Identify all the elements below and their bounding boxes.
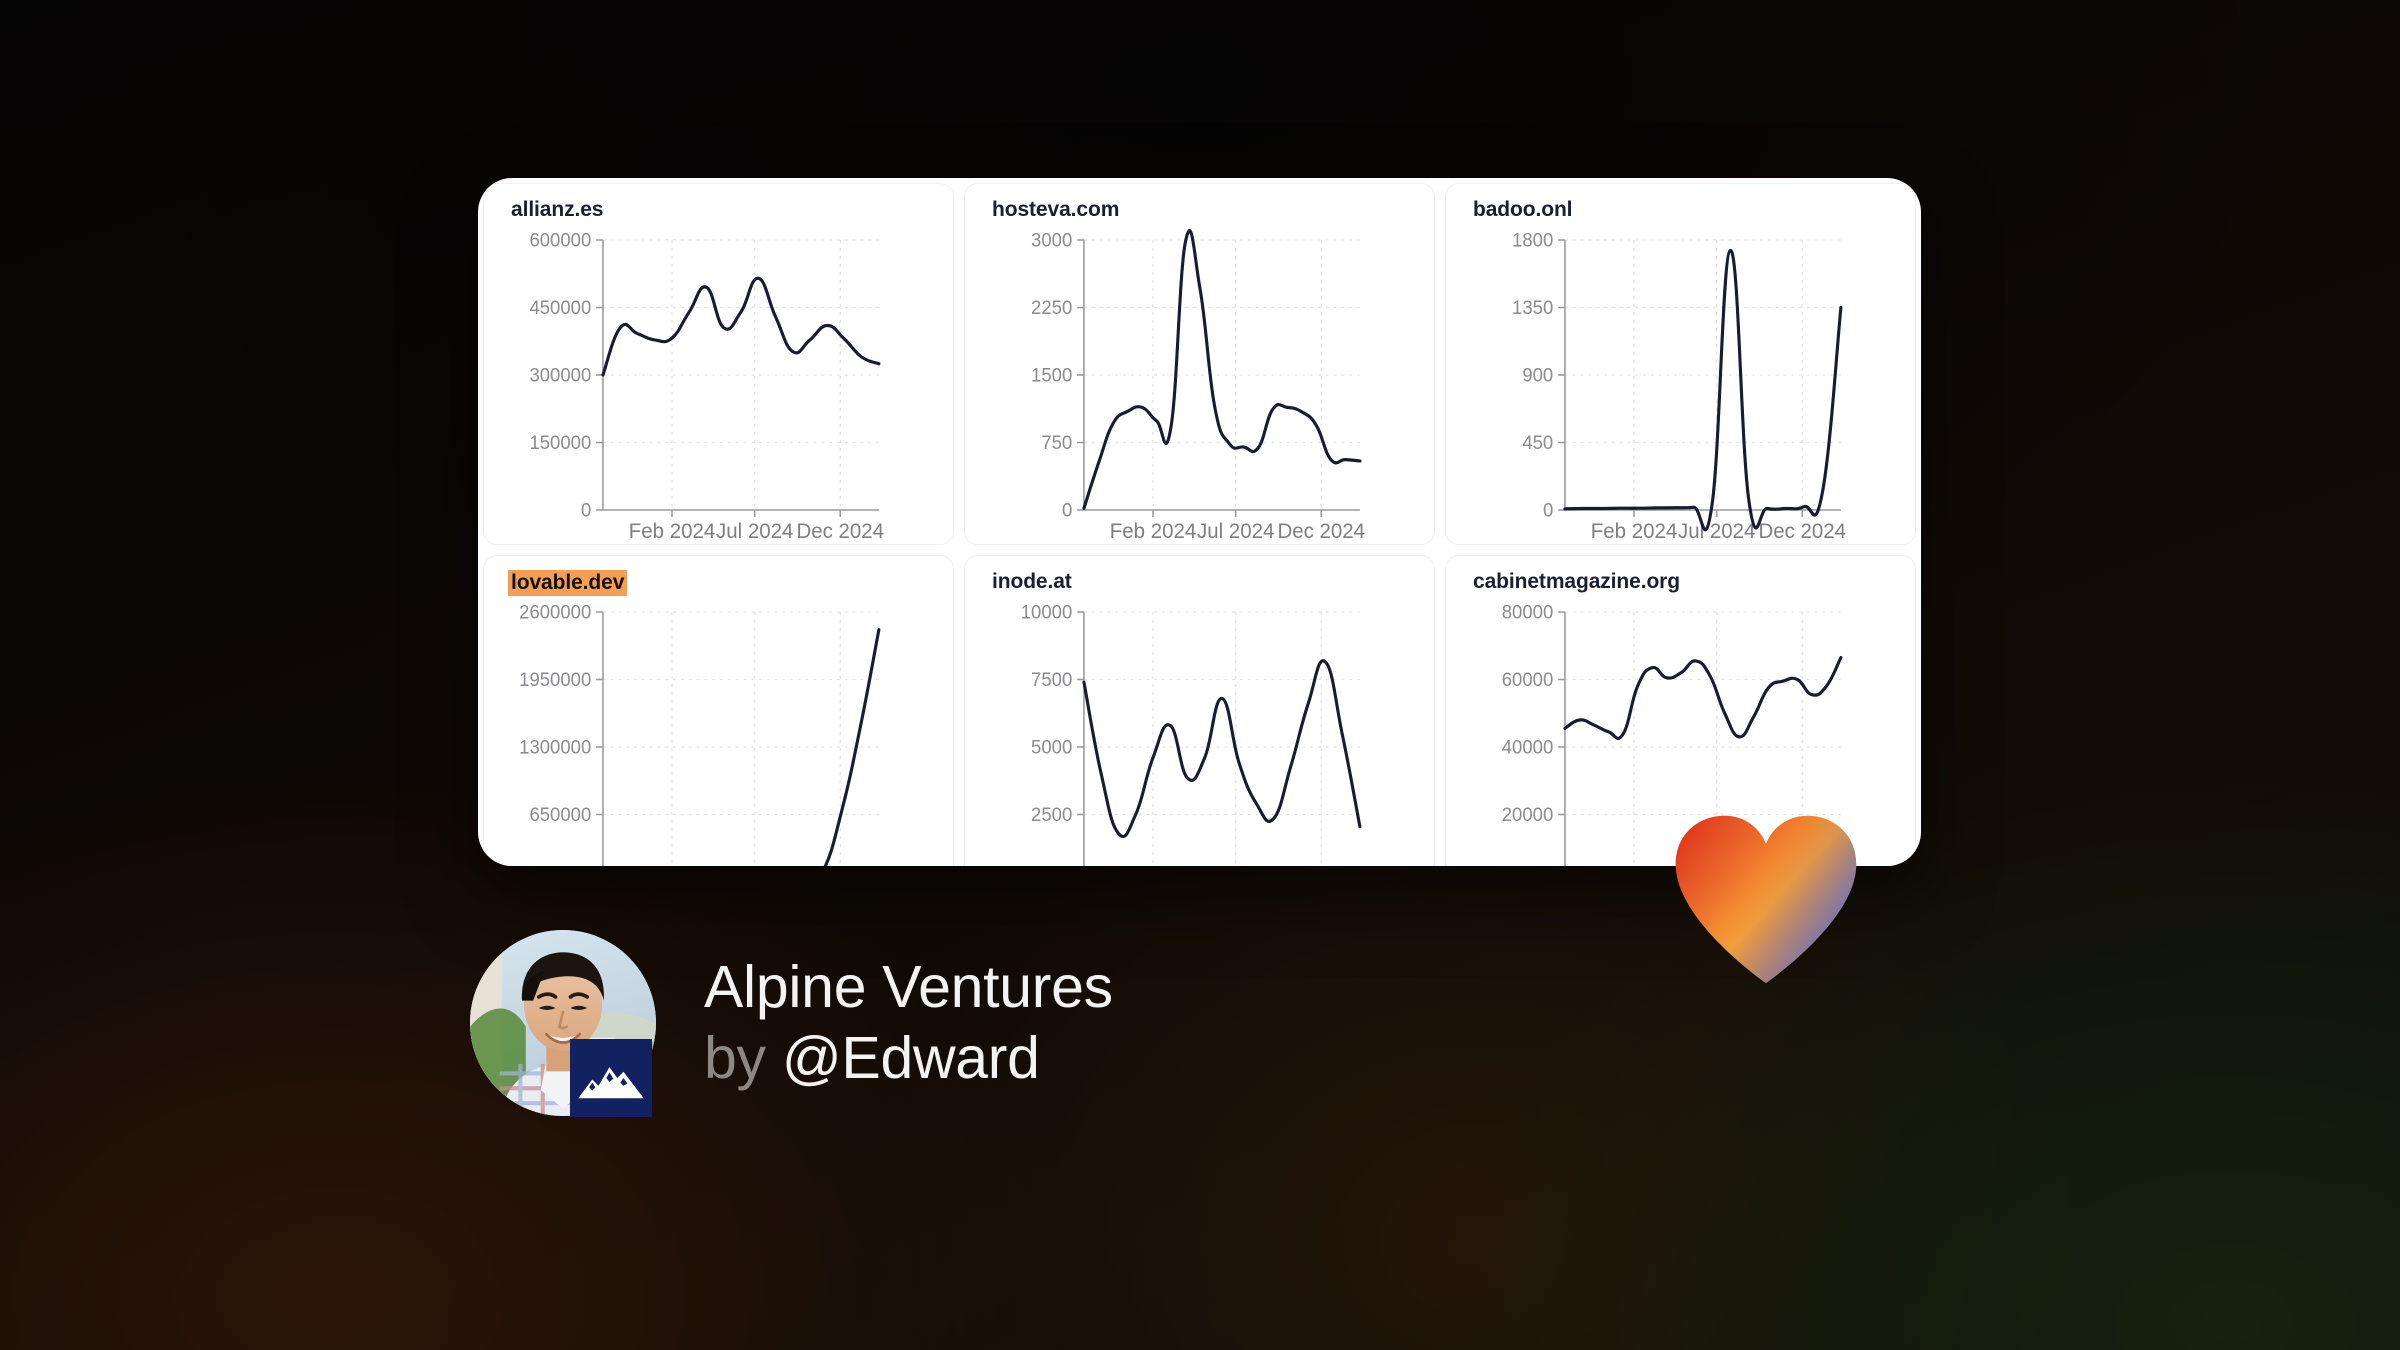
svg-text:300000: 300000 <box>529 364 591 385</box>
chart-title: allianz.es <box>511 198 603 222</box>
chart-title: badoo.onl <box>1473 198 1572 222</box>
handle-label: @Edward <box>782 1025 1040 1091</box>
svg-text:60000: 60000 <box>1502 669 1553 690</box>
svg-text:2600000: 2600000 <box>519 601 591 622</box>
svg-text:10000: 10000 <box>1021 601 1072 622</box>
svg-text:2500: 2500 <box>1031 804 1072 825</box>
svg-text:1300000: 1300000 <box>519 736 591 757</box>
chart-plot: 25005000750010000 <box>965 598 1434 866</box>
svg-text:1800: 1800 <box>1512 229 1553 250</box>
svg-text:Dec 2024: Dec 2024 <box>1277 520 1365 543</box>
chart-title: hosteva.com <box>992 198 1119 222</box>
svg-text:1950000: 1950000 <box>519 669 591 690</box>
by-label: by <box>704 1025 766 1091</box>
svg-text:600000: 600000 <box>529 229 591 250</box>
chart-grid: allianz.es 0150000300000450000600000Feb … <box>478 178 1921 866</box>
chart-title: inode.at <box>992 570 1072 594</box>
chart-panel-hosteva[interactable]: hosteva.com 0750150022503000Feb 2024Jul … <box>964 183 1435 545</box>
svg-text:Jul 2024: Jul 2024 <box>716 520 793 543</box>
dashboard-card: allianz.es 0150000300000450000600000Feb … <box>478 178 1921 866</box>
brand-byline: by @Edward <box>704 1026 1113 1091</box>
svg-text:7500: 7500 <box>1031 669 1072 690</box>
svg-text:1350: 1350 <box>1512 297 1553 318</box>
svg-text:Dec 2024: Dec 2024 <box>796 520 884 543</box>
heart-icon <box>1672 812 1860 984</box>
svg-text:80000: 80000 <box>1502 601 1553 622</box>
chart-plot: 650000130000019500002600000 <box>484 598 953 866</box>
svg-text:450000: 450000 <box>529 297 591 318</box>
svg-text:3000: 3000 <box>1031 229 1072 250</box>
svg-text:450: 450 <box>1522 432 1553 453</box>
mountain-logo-icon <box>570 1039 652 1117</box>
svg-text:40000: 40000 <box>1502 736 1553 757</box>
chart-panel-inode[interactable]: inode.at 25005000750010000 <box>964 555 1435 866</box>
chart-plot: 0750150022503000Feb 2024Jul 2024Dec 2024 <box>965 226 1434 545</box>
svg-text:1500: 1500 <box>1031 364 1072 385</box>
svg-text:900: 900 <box>1522 364 1553 385</box>
footer-branding: Alpine Ventures by @Edward <box>470 930 1113 1116</box>
chart-title: cabinetmagazine.org <box>1473 570 1680 594</box>
svg-text:20000: 20000 <box>1502 804 1553 825</box>
svg-text:650000: 650000 <box>529 804 591 825</box>
svg-text:0: 0 <box>581 499 591 520</box>
chart-plot: 0150000300000450000600000Feb 2024Jul 202… <box>484 226 953 545</box>
svg-text:2250: 2250 <box>1031 297 1072 318</box>
avatar-group <box>470 930 656 1116</box>
chart-panel-lovable[interactable]: lovable.dev 650000130000019500002600000 <box>483 555 954 866</box>
brand-text-block: Alpine Ventures by @Edward <box>704 955 1113 1091</box>
poster-root: allianz.es 0150000300000450000600000Feb … <box>0 0 2400 1350</box>
brand-name: Alpine Ventures <box>704 955 1113 1020</box>
svg-text:Jul 2024: Jul 2024 <box>1678 520 1755 543</box>
svg-text:750: 750 <box>1041 432 1072 453</box>
svg-text:150000: 150000 <box>529 432 591 453</box>
chart-title-highlighted: lovable.dev <box>508 570 627 596</box>
svg-text:Feb 2024: Feb 2024 <box>1591 520 1677 543</box>
svg-text:Feb 2024: Feb 2024 <box>629 520 715 543</box>
chart-panel-badoo[interactable]: badoo.onl 045090013501800Feb 2024Jul 202… <box>1445 183 1916 545</box>
svg-text:Dec 2024: Dec 2024 <box>1758 520 1846 543</box>
svg-text:Jul 2024: Jul 2024 <box>1197 520 1274 543</box>
svg-text:5000: 5000 <box>1031 736 1072 757</box>
svg-text:Feb 2024: Feb 2024 <box>1110 520 1196 543</box>
chart-plot: 045090013501800Feb 2024Jul 2024Dec 2024 <box>1446 226 1915 545</box>
svg-text:0: 0 <box>1543 499 1553 520</box>
chart-panel-allianz[interactable]: allianz.es 0150000300000450000600000Feb … <box>483 183 954 545</box>
svg-text:0: 0 <box>1062 499 1072 520</box>
